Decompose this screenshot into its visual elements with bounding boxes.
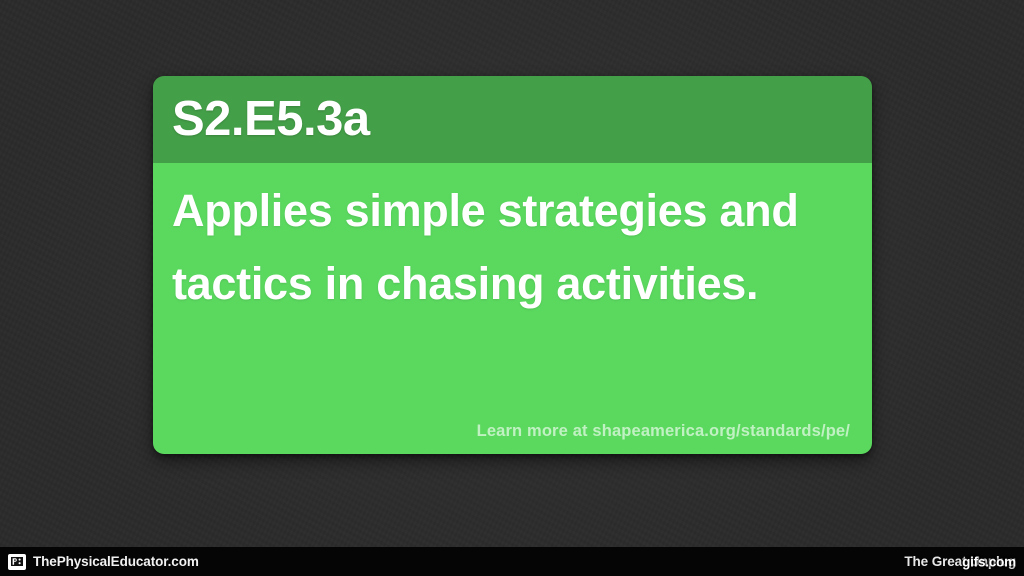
pe-logo-icon bbox=[8, 554, 26, 570]
standard-description: Applies simple strategies and tactics in… bbox=[172, 175, 832, 321]
screenshot-stage: S2.E5.3a Applies simple strategies and t… bbox=[0, 0, 1024, 576]
learn-more-link[interactable]: Learn more at shapeamerica.org/standards… bbox=[477, 422, 850, 441]
standard-card: S2.E5.3a Applies simple strategies and t… bbox=[153, 76, 872, 454]
brand-name: ThePhysicalEducator.com bbox=[33, 554, 199, 569]
card-body: Applies simple strategies and tactics in… bbox=[153, 163, 872, 454]
bottom-right-group: The Great Unplug gifs.com bbox=[904, 554, 1018, 569]
card-header: S2.E5.3a bbox=[153, 76, 872, 163]
brand-group[interactable]: ThePhysicalEducator.com bbox=[8, 554, 199, 570]
gifs-watermark: gifs.com bbox=[962, 554, 1016, 569]
bottom-bar: ThePhysicalEducator.com The Great Unplug… bbox=[0, 547, 1024, 576]
standard-code: S2.E5.3a bbox=[172, 95, 370, 144]
